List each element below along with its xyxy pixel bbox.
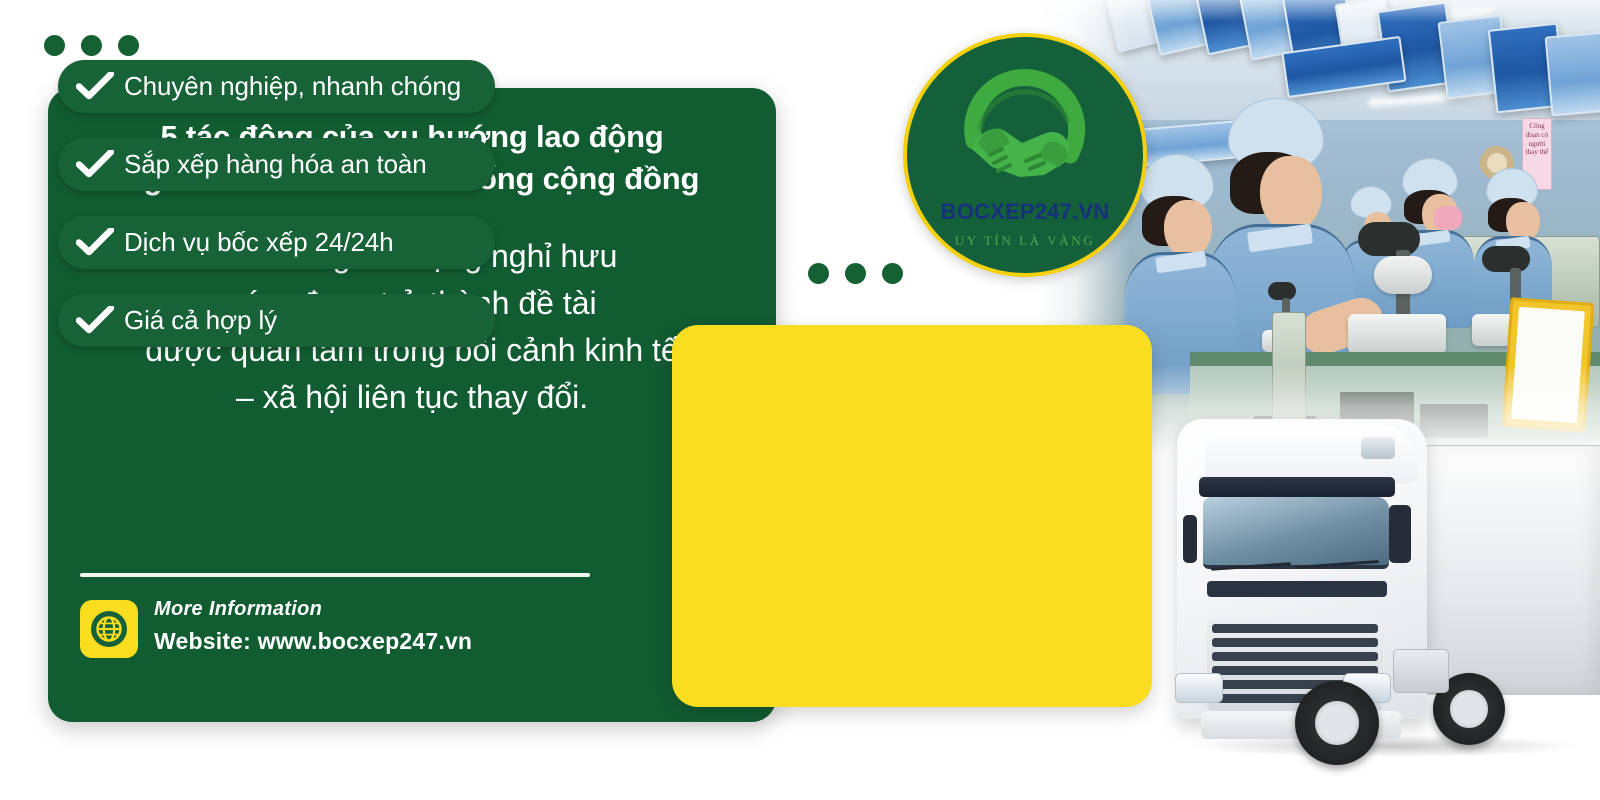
hanging-banner — [1545, 32, 1600, 117]
check-icon — [76, 72, 114, 102]
truck-cab — [1177, 419, 1427, 719]
dot — [882, 263, 903, 284]
microscope — [1340, 222, 1450, 358]
truck-headlight-left — [1175, 673, 1223, 703]
feature-label: Sắp xếp hàng hóa an toàn — [124, 149, 427, 180]
decor-dots-top-left — [44, 35, 139, 56]
dot — [44, 35, 65, 56]
body-line-4: – xã hội liên tục thay đổi. — [68, 374, 756, 421]
decor-dots-middle — [808, 263, 903, 284]
dot — [81, 35, 102, 56]
dot — [845, 263, 866, 284]
truck-grille-top — [1207, 581, 1387, 597]
check-icon — [76, 306, 114, 336]
truck-marker-light — [1361, 437, 1395, 459]
dot — [808, 263, 829, 284]
features-list: Chuyên nghiệp, nhanh chóng Sắp xếp hàng … — [58, 60, 498, 372]
feature-item-3[interactable]: Dịch vụ bốc xếp 24/24h — [58, 216, 495, 269]
truck-photo — [1155, 405, 1600, 785]
logo-company-name: BOCXEP247.VN — [907, 199, 1143, 225]
globe-icon[interactable] — [80, 600, 138, 658]
grille-slat — [1212, 638, 1378, 647]
divider — [80, 573, 590, 577]
feature-label: Chuyên nghiệp, nhanh chóng — [124, 71, 461, 102]
check-icon — [76, 228, 114, 258]
truck-sun-visor — [1199, 477, 1395, 497]
company-logo-badge[interactable]: BOCXEP247.VN UY TÍN LÀ VÀNG — [903, 33, 1147, 277]
truck-windshield — [1203, 497, 1389, 569]
more-information-label: More Information — [154, 598, 472, 621]
contact-text-group: More Information Website: www.bocxep247.… — [154, 598, 472, 655]
feature-label: Dịch vụ bốc xếp 24/24h — [124, 227, 394, 258]
grille-slat — [1212, 624, 1378, 633]
logo-slogan: UY TÍN LÀ VÀNG — [907, 233, 1143, 249]
feature-label: Giá cả hợp lý — [124, 305, 277, 336]
dot — [118, 35, 139, 56]
feature-item-4[interactable]: Giá cả hợp lý — [58, 294, 495, 347]
grille-slat — [1212, 652, 1378, 661]
truck-fuel-tank — [1393, 649, 1449, 693]
features-yellow-card — [672, 325, 1152, 707]
photo-fade-top — [1040, 0, 1600, 22]
feature-item-1[interactable]: Chuyên nghiệp, nhanh chóng — [58, 60, 495, 113]
truck-mirror-right — [1389, 505, 1411, 563]
handshake-circle-icon — [950, 63, 1100, 195]
banner-canvas: Công đoạn có người thay thế — [0, 0, 1600, 800]
check-icon — [76, 150, 114, 180]
contact-info-row: More Information Website: www.bocxep247.… — [80, 600, 720, 670]
truck-wheel-front — [1295, 681, 1379, 765]
website-label[interactable]: Website: www.bocxep247.vn — [154, 628, 472, 655]
truck-mirror-left — [1183, 515, 1197, 563]
feature-item-2[interactable]: Sắp xếp hàng hóa an toàn — [58, 138, 495, 191]
